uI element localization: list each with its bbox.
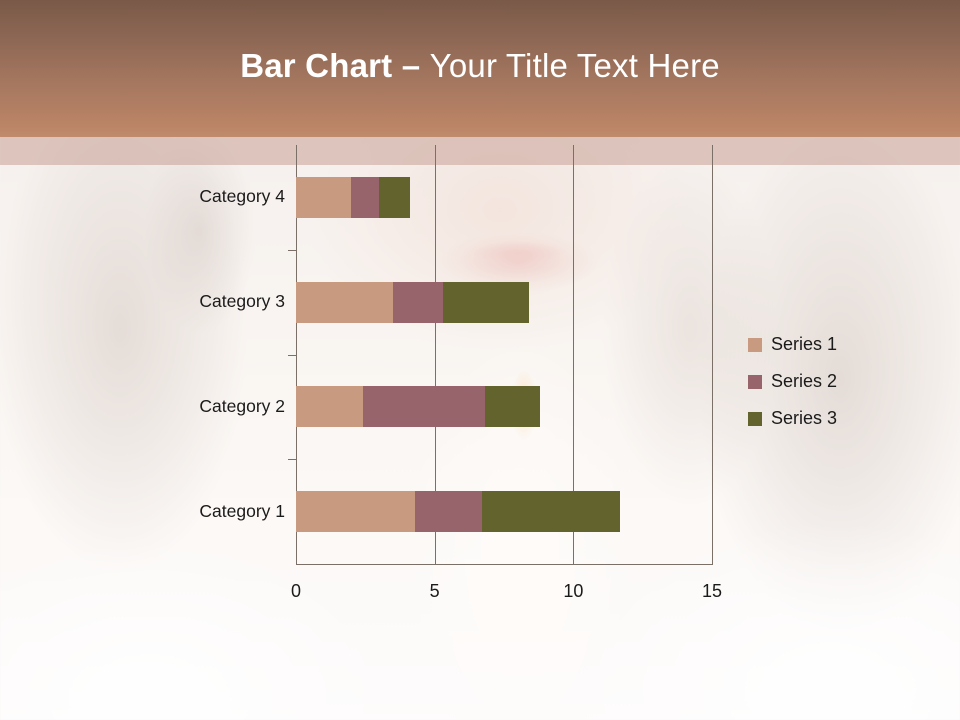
x-axis-tick-label: 15 [702, 581, 722, 602]
category-label: Category 4 [165, 186, 285, 207]
legend-swatch-icon [748, 338, 762, 352]
bar-segment-series-1[interactable] [296, 491, 415, 532]
legend-item[interactable]: Series 3 [748, 400, 837, 437]
bar-segment-series-3[interactable] [443, 282, 529, 323]
bar-segment-series-2[interactable] [363, 386, 485, 427]
legend-swatch-icon [748, 375, 762, 389]
legend-label: Series 2 [771, 371, 837, 392]
x-axis-tick-label: 10 [563, 581, 583, 602]
y-axis-tick [288, 355, 296, 356]
bar-segment-series-2[interactable] [351, 177, 379, 218]
x-axis-line [296, 564, 713, 565]
y-axis-tick [288, 250, 296, 251]
bar-group[interactable] [296, 177, 410, 218]
bar-segment-series-2[interactable] [393, 282, 443, 323]
bar-segment-series-2[interactable] [415, 491, 482, 532]
category-label: Category 3 [165, 291, 285, 312]
chart-legend: Series 1Series 2Series 3 [748, 326, 837, 437]
x-axis-tick-label: 0 [291, 581, 301, 602]
legend-item[interactable]: Series 2 [748, 363, 837, 400]
bar-group[interactable] [296, 491, 620, 532]
y-axis-tick [288, 459, 296, 460]
bar-chart: Category 1Category 2Category 3Category 4… [0, 0, 960, 720]
bar-segment-series-3[interactable] [379, 177, 410, 218]
legend-label: Series 1 [771, 334, 837, 355]
bar-segment-series-3[interactable] [485, 386, 540, 427]
x-axis-tick-label: 5 [430, 581, 440, 602]
legend-label: Series 3 [771, 408, 837, 429]
legend-item[interactable]: Series 1 [748, 326, 837, 363]
bar-segment-series-3[interactable] [482, 491, 621, 532]
bar-segment-series-1[interactable] [296, 177, 351, 218]
slide: Bar Chart – Your Title Text Here Categor… [0, 0, 960, 720]
category-label: Category 2 [165, 396, 285, 417]
bar-segment-series-1[interactable] [296, 282, 393, 323]
legend-swatch-icon [748, 412, 762, 426]
category-label: Category 1 [165, 501, 285, 522]
bar-group[interactable] [296, 282, 529, 323]
gridline [712, 145, 713, 564]
bar-group[interactable] [296, 386, 540, 427]
bar-segment-series-1[interactable] [296, 386, 363, 427]
